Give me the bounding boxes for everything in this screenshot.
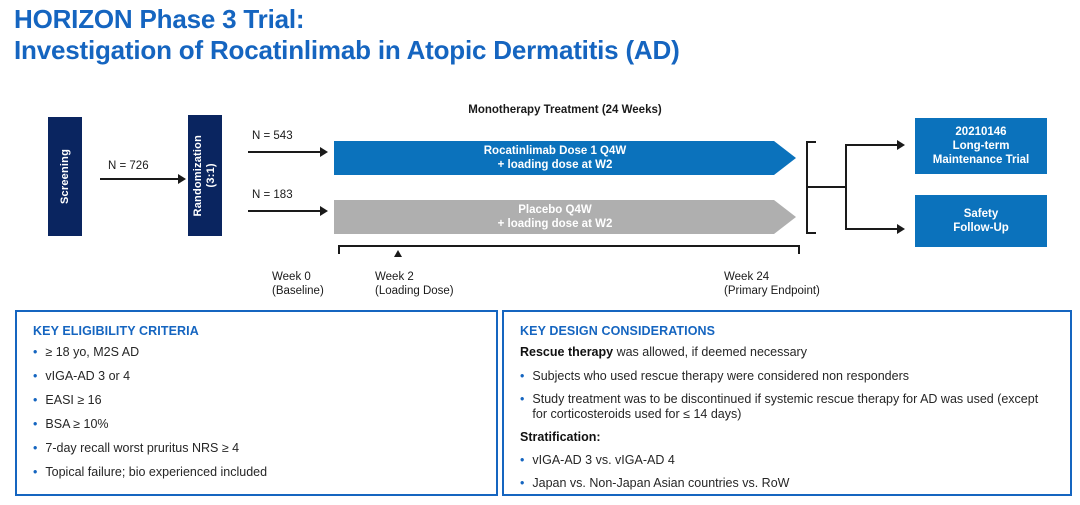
split-line-bottom: [845, 228, 899, 230]
stratification-item: •vIGA-AD 3 vs. vIGA-AD 4: [520, 453, 1056, 468]
stratification-item: •Japan vs. Non-Japan Asian countries vs.…: [520, 476, 1056, 491]
timeline-label-week2: Week 2(Loading Dose): [375, 270, 454, 298]
bullet-icon: •: [33, 441, 37, 456]
split-vertical: [845, 144, 847, 230]
split-line-top: [845, 144, 899, 146]
eligibility-item: •vIGA-AD 3 or 4: [33, 369, 482, 384]
placebo-arm-label: Placebo Q4W+ loading dose at W2: [498, 203, 613, 231]
title-line-1: HORIZON Phase 3 Trial:: [14, 4, 1014, 35]
maintenance-trial-box: 20210146Long-termMaintenance Trial: [915, 118, 1047, 174]
eligibility-item: •≥ 18 yo, M2S AD: [33, 345, 482, 360]
arrow-placebo-head: [320, 206, 328, 216]
eligibility-panel: KEY ELIGIBILITY CRITERIA •≥ 18 yo, M2S A…: [15, 310, 498, 496]
monotherapy-header: Monotherapy Treatment (24 Weeks): [334, 104, 796, 116]
bullet-icon: •: [33, 345, 37, 360]
timeline-axis: [338, 245, 800, 247]
arrow-drug-head: [320, 147, 328, 157]
rescue-therapy-lead: Rescue therapy was allowed, if deemed ne…: [520, 345, 1056, 360]
bullet-icon: •: [33, 465, 37, 480]
timeline-label-week0: Week 0(Baseline): [272, 270, 324, 298]
bullet-icon: •: [33, 393, 37, 408]
merge-bracket-bottom: [806, 232, 816, 234]
timeline-tick-end: [798, 245, 800, 254]
timeline-week2-marker: [394, 250, 402, 257]
timeline-label-week24: Week 24(Primary Endpoint): [724, 270, 820, 298]
n-screening-label: N = 726: [108, 160, 149, 172]
split-arrow-bottom-head: [897, 224, 905, 234]
timeline-tick-start: [338, 245, 340, 254]
screening-box: Screening: [48, 117, 82, 236]
bullet-icon: •: [33, 369, 37, 384]
safety-followup-label: SafetyFollow-Up: [953, 207, 1009, 235]
title-line-2: Investigation of Rocatinlimab in Atopic …: [14, 35, 1014, 66]
design-considerations-panel: KEY DESIGN CONSIDERATIONS Rescue therapy…: [502, 310, 1072, 496]
bullet-icon: •: [520, 369, 524, 384]
trial-flow-diagram: Screening Randomization(3:1) N = 726 N =…: [0, 98, 1080, 303]
arrow-placebo-line: [248, 210, 322, 212]
eligibility-panel-title: KEY ELIGIBILITY CRITERIA: [33, 324, 482, 338]
randomization-box: Randomization(3:1): [188, 115, 222, 236]
n-drug-label: N = 543: [252, 130, 293, 142]
stratification-title: Stratification:: [520, 430, 1056, 444]
arrow-screening-line: [100, 178, 180, 180]
eligibility-item: •Topical failure; bio experienced includ…: [33, 465, 482, 480]
n-placebo-label: N = 183: [252, 189, 293, 201]
rescue-therapy-bold: Rescue therapy: [520, 345, 613, 359]
design-panel-title: KEY DESIGN CONSIDERATIONS: [520, 324, 1056, 338]
safety-followup-box: SafetyFollow-Up: [915, 195, 1047, 247]
merge-bracket-top: [806, 141, 816, 143]
screening-label: Screening: [59, 149, 72, 204]
bullet-icon: •: [520, 453, 524, 468]
placebo-arm-bar: Placebo Q4W+ loading dose at W2: [334, 200, 796, 234]
bullet-icon: •: [520, 476, 524, 491]
page-title: HORIZON Phase 3 Trial: Investigation of …: [14, 4, 1014, 66]
design-item: •Study treatment was to be discontinued …: [520, 392, 1056, 422]
design-item: •Subjects who used rescue therapy were c…: [520, 369, 1056, 384]
drug-arm-label: Rocatinlimab Dose 1 Q4W+ loading dose at…: [484, 144, 627, 172]
maintenance-trial-label: 20210146Long-termMaintenance Trial: [933, 125, 1030, 167]
bullet-icon: •: [33, 417, 37, 432]
randomization-label: Randomization(3:1): [192, 135, 218, 216]
eligibility-item: •BSA ≥ 10%: [33, 417, 482, 432]
bullet-icon: •: [520, 392, 524, 422]
eligibility-item: •EASI ≥ 16: [33, 393, 482, 408]
split-arrow-top-head: [897, 140, 905, 150]
eligibility-item: •7-day recall worst pruritus NRS ≥ 4: [33, 441, 482, 456]
arrow-drug-line: [248, 151, 322, 153]
arrow-screening-head: [178, 174, 186, 184]
drug-arm-bar: Rocatinlimab Dose 1 Q4W+ loading dose at…: [334, 141, 796, 175]
merge-bracket-stem: [806, 186, 846, 188]
